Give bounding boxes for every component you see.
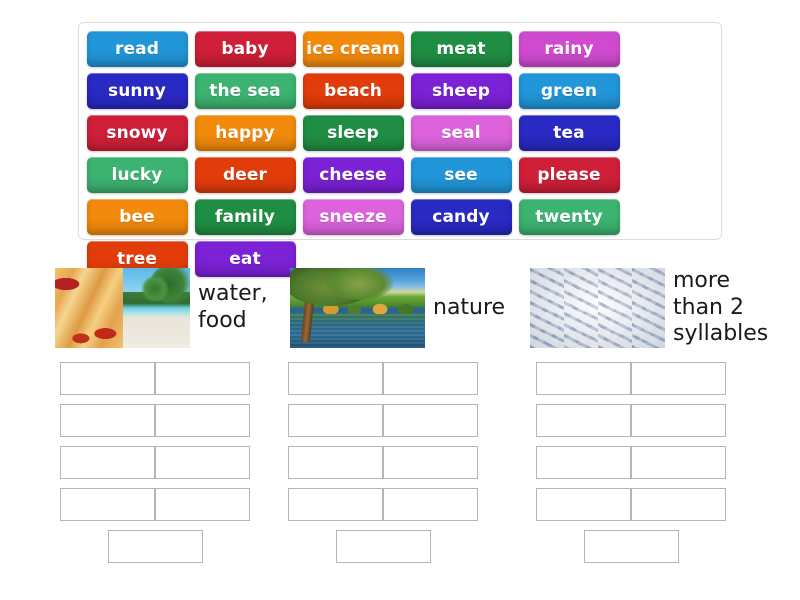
drop-slot[interactable] xyxy=(536,362,631,395)
drop-slot-row xyxy=(60,530,250,563)
drop-slot-row xyxy=(288,362,478,395)
drop-slot[interactable] xyxy=(155,362,250,395)
word-tile[interactable]: twenty xyxy=(519,199,620,235)
word-tile[interactable]: lucky xyxy=(87,157,188,193)
drop-slot[interactable] xyxy=(155,446,250,479)
word-tile[interactable]: candy xyxy=(411,199,512,235)
word-tile[interactable]: bee xyxy=(87,199,188,235)
drop-slot[interactable] xyxy=(383,362,478,395)
drop-slot[interactable] xyxy=(383,488,478,521)
drop-slot-row xyxy=(536,404,726,437)
word-tile[interactable]: happy xyxy=(195,115,296,151)
drop-slot-row xyxy=(288,404,478,437)
drop-slot[interactable] xyxy=(108,530,203,563)
drop-slot[interactable] xyxy=(383,404,478,437)
beach-tree-foliage-secondary xyxy=(140,276,170,302)
category-nature: nature xyxy=(290,258,510,358)
word-tile[interactable]: sheep xyxy=(411,73,512,109)
category-label: water, food xyxy=(190,281,285,335)
drop-slot[interactable] xyxy=(288,488,383,521)
category-more-than-2-syllables: more than 2 syllables xyxy=(530,258,780,358)
drop-slot-row xyxy=(536,446,726,479)
drop-slot[interactable] xyxy=(631,362,726,395)
paper-word-slips-photo xyxy=(530,268,665,348)
drop-slot[interactable] xyxy=(288,404,383,437)
category-label: more than 2 syllables xyxy=(665,268,780,348)
drop-slot-row xyxy=(536,530,726,563)
word-tile[interactable]: ice cream xyxy=(303,31,404,67)
drop-slot[interactable] xyxy=(336,530,431,563)
drop-slot-row xyxy=(60,362,250,395)
category-water-food: water, food xyxy=(55,258,285,358)
drop-slot[interactable] xyxy=(383,446,478,479)
drop-slot[interactable] xyxy=(60,488,155,521)
drop-slot-row xyxy=(536,362,726,395)
drop-group-water-food xyxy=(60,362,310,572)
word-tile[interactable]: family xyxy=(195,199,296,235)
word-tile[interactable]: the sea xyxy=(195,73,296,109)
food-and-beach-photo xyxy=(55,268,190,348)
drop-slot[interactable] xyxy=(155,404,250,437)
drop-slot-row xyxy=(288,530,478,563)
drop-slot[interactable] xyxy=(60,446,155,479)
word-tile[interactable]: baby xyxy=(195,31,296,67)
word-tile[interactable]: please xyxy=(519,157,620,193)
word-tile[interactable]: meat xyxy=(411,31,512,67)
word-tile[interactable]: sneeze xyxy=(303,199,404,235)
word-tile[interactable]: snowy xyxy=(87,115,188,151)
drop-slot[interactable] xyxy=(60,404,155,437)
drop-slot[interactable] xyxy=(288,446,383,479)
drop-slot[interactable] xyxy=(631,404,726,437)
drop-slot[interactable] xyxy=(536,488,631,521)
category-header-row: water, food nature more than 2 syllables xyxy=(0,258,800,358)
drop-zone-area xyxy=(0,362,800,562)
drop-slot[interactable] xyxy=(288,362,383,395)
drop-group-more-than-2-syllables xyxy=(536,362,786,572)
food-photo-half xyxy=(55,268,123,348)
drop-slot[interactable] xyxy=(584,530,679,563)
word-tile[interactable]: sleep xyxy=(303,115,404,151)
drop-slot-row xyxy=(536,488,726,521)
drop-slot-row xyxy=(288,446,478,479)
drop-slot-row xyxy=(60,446,250,479)
word-tile[interactable]: deer xyxy=(195,157,296,193)
tree-canopy-secondary xyxy=(324,268,394,300)
paper-slips-shading xyxy=(530,268,665,348)
drop-slot-row xyxy=(60,404,250,437)
drop-slot[interactable] xyxy=(60,362,155,395)
word-tile[interactable]: sunny xyxy=(87,73,188,109)
word-tile[interactable]: seal xyxy=(411,115,512,151)
word-tile[interactable]: cheese xyxy=(303,157,404,193)
drop-slot[interactable] xyxy=(631,488,726,521)
drop-group-nature xyxy=(288,362,538,572)
word-tile-list: readbabyice creammeatrainysunnythe seabe… xyxy=(83,28,717,280)
word-tile[interactable]: read xyxy=(87,31,188,67)
drop-slot-row xyxy=(288,488,478,521)
word-tile[interactable]: beach xyxy=(303,73,404,109)
drop-slot[interactable] xyxy=(155,488,250,521)
beach-photo-half xyxy=(123,268,191,348)
drop-slot[interactable] xyxy=(631,446,726,479)
drop-slot[interactable] xyxy=(536,446,631,479)
word-tile[interactable]: green xyxy=(519,73,620,109)
word-tile[interactable]: see xyxy=(411,157,512,193)
category-label: nature xyxy=(425,295,505,322)
drop-slot-row xyxy=(60,488,250,521)
word-tile[interactable]: tea xyxy=(519,115,620,151)
word-tile[interactable]: rainy xyxy=(519,31,620,67)
lake-and-trees-photo xyxy=(290,268,425,348)
drop-slot[interactable] xyxy=(536,404,631,437)
word-bank-panel: readbabyice creammeatrainysunnythe seabe… xyxy=(78,22,722,240)
